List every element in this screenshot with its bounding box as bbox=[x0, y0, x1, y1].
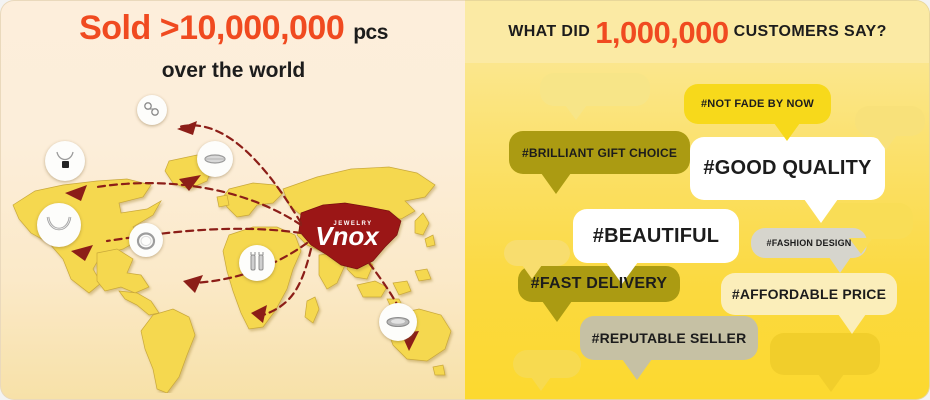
bubble-fast-delivery-label: #FAST DELIVERY bbox=[531, 275, 667, 293]
bubble-not-fade-by-now-tail bbox=[774, 123, 800, 141]
sold-headline: Sold >10,000,000 pcs bbox=[1, 9, 465, 48]
bubble-brilliant-gift-choice-label: #BRILLIANT GIFT CHOICE bbox=[522, 146, 677, 160]
decor-bubble-5-tail bbox=[818, 374, 844, 392]
bubble-brilliant-gift-choice-tail bbox=[541, 173, 571, 194]
bubble-affordable-price[interactable]: #AFFORDABLE PRICE bbox=[721, 273, 897, 315]
bubble-not-fade-by-now-body: #NOT FADE BY NOW bbox=[684, 84, 831, 124]
decor-bubble-1-body bbox=[540, 73, 650, 106]
decor-bubble-4-body bbox=[504, 240, 570, 266]
sold-headline-prefix: Sold > bbox=[79, 9, 179, 47]
decor-bubble-2-tail bbox=[875, 135, 897, 150]
pin-chain-necklace[interactable] bbox=[37, 203, 81, 247]
decor-bubble-6 bbox=[513, 350, 581, 378]
bubble-beautiful-body: #BEAUTIFUL bbox=[573, 209, 739, 263]
decor-bubble-5 bbox=[770, 333, 880, 375]
bubble-beautiful[interactable]: #BEAUTIFUL bbox=[573, 209, 739, 263]
ring-icon bbox=[134, 228, 158, 252]
decor-bubble-2 bbox=[855, 106, 925, 136]
bubble-fast-delivery-body: #FAST DELIVERY bbox=[518, 266, 680, 302]
bubble-affordable-price-tail bbox=[838, 314, 866, 334]
pin-pendant-necklace[interactable] bbox=[45, 141, 85, 181]
decor-bubble-6-body bbox=[513, 350, 581, 378]
promo-banner: Sold >10,000,000 pcs over the world bbox=[0, 0, 930, 400]
bubble-reputable-seller-body: #REPUTABLE SELLER bbox=[580, 316, 758, 360]
chain-necklace-icon bbox=[43, 209, 75, 241]
bubble-reputable-seller[interactable]: #REPUTABLE SELLER bbox=[580, 316, 758, 360]
decor-bubble-1-tail bbox=[565, 105, 587, 120]
bubble-fast-delivery[interactable]: #FAST DELIVERY bbox=[518, 266, 680, 302]
bangle-icon bbox=[384, 308, 412, 336]
bubble-brilliant-gift-choice-body: #BRILLIANT GIFT CHOICE bbox=[509, 131, 690, 174]
pin-earrings[interactable] bbox=[137, 95, 167, 125]
decor-bubble-4 bbox=[504, 240, 570, 266]
decor-bubble-6-tail bbox=[531, 377, 551, 391]
header-customer-count: 1,000,000 bbox=[595, 15, 728, 51]
bubble-good-quality-tail bbox=[804, 199, 838, 223]
pin-cufflinks[interactable] bbox=[239, 245, 275, 281]
header-lead-text: WHAT DID bbox=[508, 23, 590, 41]
pin-ring[interactable] bbox=[129, 223, 163, 257]
svg-text:JEWELRY: JEWELRY bbox=[333, 221, 372, 227]
decor-bubble-3-tail bbox=[849, 238, 873, 254]
bubble-fashion-design-label: #FASHION DESIGN bbox=[766, 238, 851, 248]
vnox-brand-logo: Vnox JEWELRY bbox=[315, 221, 380, 251]
bubble-not-fade-by-now[interactable]: #NOT FADE BY NOW bbox=[684, 84, 831, 124]
pin-bangle[interactable] bbox=[379, 303, 417, 341]
sold-headline-number: 10,000,000 bbox=[179, 9, 344, 47]
bubble-reputable-seller-label: #REPUTABLE SELLER bbox=[592, 330, 747, 346]
decor-bubble-1 bbox=[540, 73, 650, 106]
pendant-necklace-icon bbox=[51, 147, 79, 175]
sold-headline-unit: pcs bbox=[353, 21, 388, 44]
bubble-affordable-price-label: #AFFORDABLE PRICE bbox=[732, 286, 886, 302]
bubble-good-quality-label: #GOOD QUALITY bbox=[703, 157, 871, 180]
decor-bubble-5-body bbox=[770, 333, 880, 375]
bubble-reputable-seller-tail bbox=[622, 359, 652, 380]
bubble-affordable-price-body: #AFFORDABLE PRICE bbox=[721, 273, 897, 315]
bubble-fashion-design-tail bbox=[829, 257, 851, 273]
bubble-brilliant-gift-choice[interactable]: #BRILLIANT GIFT CHOICE bbox=[509, 131, 690, 174]
world-map: Vnox JEWELRY bbox=[1, 93, 465, 393]
bubble-not-fade-by-now-label: #NOT FADE BY NOW bbox=[701, 98, 814, 110]
earrings-icon bbox=[142, 100, 162, 120]
testimonials-header: WHAT DID 1,000,000 CUSTOMERS SAY? bbox=[465, 1, 930, 63]
left-panel-world-map: Sold >10,000,000 pcs over the world bbox=[0, 0, 465, 400]
sold-subheadline: over the world bbox=[1, 59, 465, 83]
bubble-fast-delivery-tail bbox=[542, 301, 572, 322]
bubble-good-quality-body: #GOOD QUALITY bbox=[690, 137, 885, 200]
bracelet-icon bbox=[202, 146, 228, 172]
bubble-good-quality[interactable]: #GOOD QUALITY bbox=[690, 137, 885, 200]
header-trail-text: CUSTOMERS SAY? bbox=[734, 23, 887, 41]
pin-bracelet[interactable] bbox=[197, 141, 233, 177]
cufflinks-icon bbox=[244, 250, 270, 276]
bubble-beautiful-label: #BEAUTIFUL bbox=[593, 225, 719, 248]
decor-bubble-2-body bbox=[855, 106, 925, 136]
